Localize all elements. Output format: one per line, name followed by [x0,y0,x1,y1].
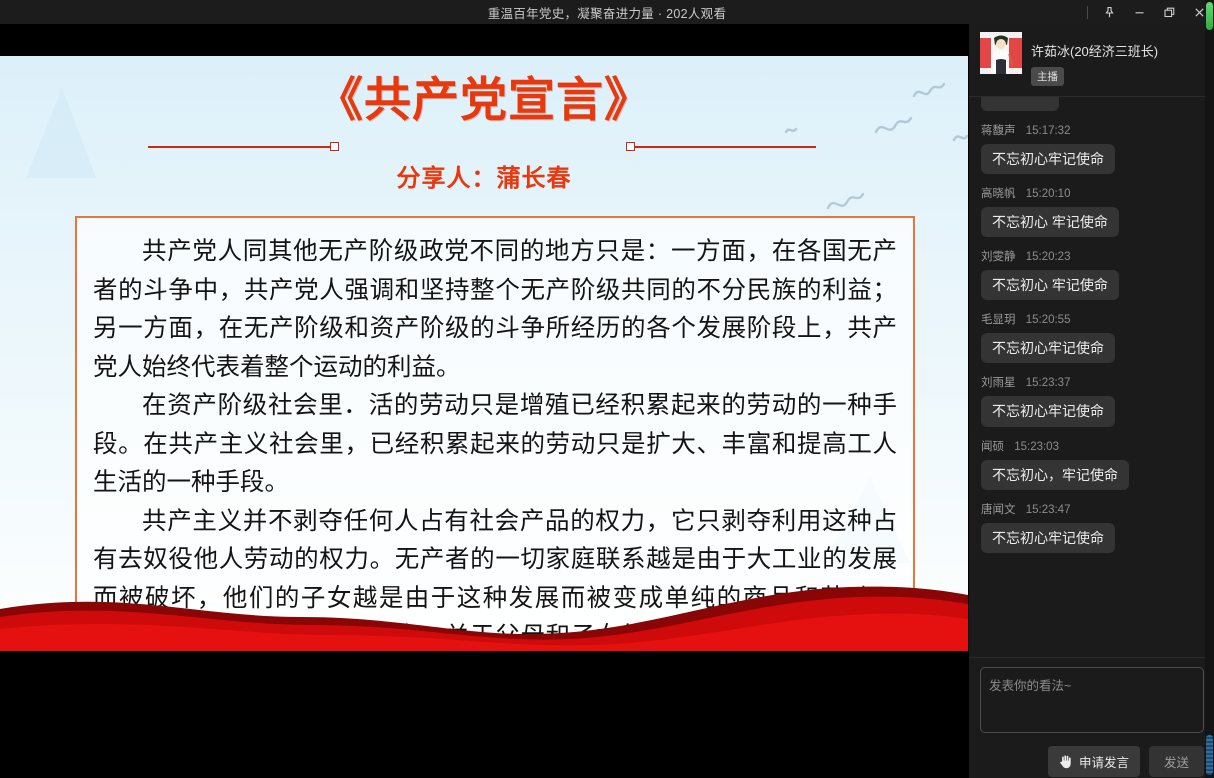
list-item: 闻硕 15:23:03 不忘初心，牢记使命 [969,438,1214,490]
message-time: 15:17:32 [1026,125,1071,137]
message-bubble [981,97,1059,111]
slide-canvas: 《共产党宣言》 分享人：蒲长春 共产党人同其他无产阶级政党不同的地方只是：一方面… [0,56,968,651]
message-author: 闻硕 [981,441,1004,453]
list-item: 刘雨星 15:23:37 不忘初心牢记使命 [969,374,1214,426]
list-item [969,97,1214,111]
message-time: 15:23:03 [1014,441,1059,453]
scrollbar-thumb[interactable] [1206,2,1213,30]
chat-input[interactable] [980,667,1204,733]
message-bubble: 不忘初心牢记使命 [981,333,1115,363]
list-item: 毛显玥 15:20:55 不忘初心牢记使命 [969,311,1214,363]
list-item: 唐闻文 15:23:47 不忘初心牢记使命 [969,501,1214,553]
rule-left [148,146,330,148]
message-meta: 蒋馥声 15:17:32 [981,122,1203,138]
message-bubble: 不忘初心，牢记使命 [981,460,1129,490]
message-meta: 毛显玥 15:20:55 [981,311,1203,327]
message-time: 15:20:23 [1026,251,1071,263]
slide-title-area: 《共产党宣言》 [0,74,968,128]
message-meta: 唐闻文 15:23:47 [981,501,1203,517]
window-title: 重温百年党史，凝聚奋进力量 · 202人观看 [488,3,727,22]
rule-dot-left [330,142,339,151]
message-meta: 刘雯静 15:20:23 [981,248,1203,264]
message-bubble: 不忘初心牢记使命 [981,144,1115,174]
message-meta: 高晓帆 15:20:10 [981,185,1203,201]
list-item: 高晓帆 15:20:10 不忘初心 牢记使命 [969,185,1214,237]
minimize-icon[interactable] [1124,0,1154,24]
composer: 申请发言 发送 [969,657,1214,778]
message-meta: 刘雨星 15:23:37 [981,374,1203,390]
message-author: 蒋馥声 [981,125,1016,137]
slide-paragraph-2: 在资产阶级社会里．活的劳动只是增殖已经积累起来的劳动的一种手段。在共产主义社会里… [93,386,897,502]
message-bubble: 不忘初心牢记使命 [981,396,1115,426]
avatar-illustration-icon [980,32,1022,74]
title-rules [0,142,968,152]
message-author: 刘雨星 [981,377,1016,389]
chat-panel: 许茹冰(20经济三班长) 主播 蒋馥声 15:17:32 不忘初心牢记使命 高晓… [968,24,1214,778]
slide-subtitle: 分享人：蒲长春 [0,158,968,193]
raise-hand-button[interactable]: 申请发言 [1048,746,1140,777]
message-bubble: 不忘初心 牢记使命 [981,270,1119,300]
window-scrollbar[interactable] [1205,0,1214,778]
stage-toolbar [0,651,968,778]
message-author: 刘雯静 [981,251,1016,263]
rule-dot-right [626,142,635,151]
page-title: 《共产党宣言》 [0,74,968,128]
message-bubble: 不忘初心牢记使命 [981,523,1115,553]
message-time: 15:23:37 [1026,377,1071,389]
divider [1087,6,1088,19]
rule-right [632,146,816,148]
restore-icon[interactable] [1154,0,1184,24]
list-item: 蒋馥声 15:17:32 不忘初心牢记使命 [969,122,1214,174]
host-name: 许茹冰(20经济三班长) [1031,41,1158,60]
raise-hand-label: 申请发言 [1079,752,1129,771]
live-class-window: 重温百年党史，凝聚奋进力量 · 202人观看 [0,0,1214,778]
title-bar: 重温百年党史，凝聚奋进力量 · 202人观看 [0,0,1214,24]
message-time: 15:23:47 [1026,504,1071,516]
window-controls [1087,0,1214,24]
message-author: 唐闻文 [981,504,1016,516]
send-button[interactable]: 发送 [1149,746,1204,777]
red-wave-decoration [0,573,968,651]
pin-icon[interactable] [1094,0,1124,24]
presentation-stage: 《共产党宣言》 分享人：蒲长春 共产党人同其他无产阶级政党不同的地方只是：一方面… [0,24,968,778]
chat-message-list[interactable]: 蒋馥声 15:17:32 不忘初心牢记使命 高晓帆 15:20:10 不忘初心 … [969,97,1214,657]
message-meta: 闻硕 15:23:03 [981,438,1203,454]
avatar[interactable] [980,32,1022,74]
composer-actions: 申请发言 发送 [1048,746,1204,777]
message-bubble: 不忘初心 牢记使命 [981,207,1119,237]
list-item: 刘雯静 15:20:23 不忘初心 牢记使命 [969,248,1214,300]
message-time: 15:20:10 [1026,188,1071,200]
host-header: 许茹冰(20经济三班长) 主播 [969,24,1214,97]
hand-icon [1059,754,1073,769]
scrollbar-thumb-secondary[interactable] [1206,735,1213,775]
host-badge: 主播 [1031,67,1064,86]
message-author: 毛显玥 [981,314,1016,326]
message-author: 高晓帆 [981,188,1016,200]
message-time: 15:20:55 [1026,314,1071,326]
slide-paragraph-1: 共产党人同其他无产阶级政党不同的地方只是：一方面，在各国无产者的斗争中，共产党人… [93,232,897,386]
